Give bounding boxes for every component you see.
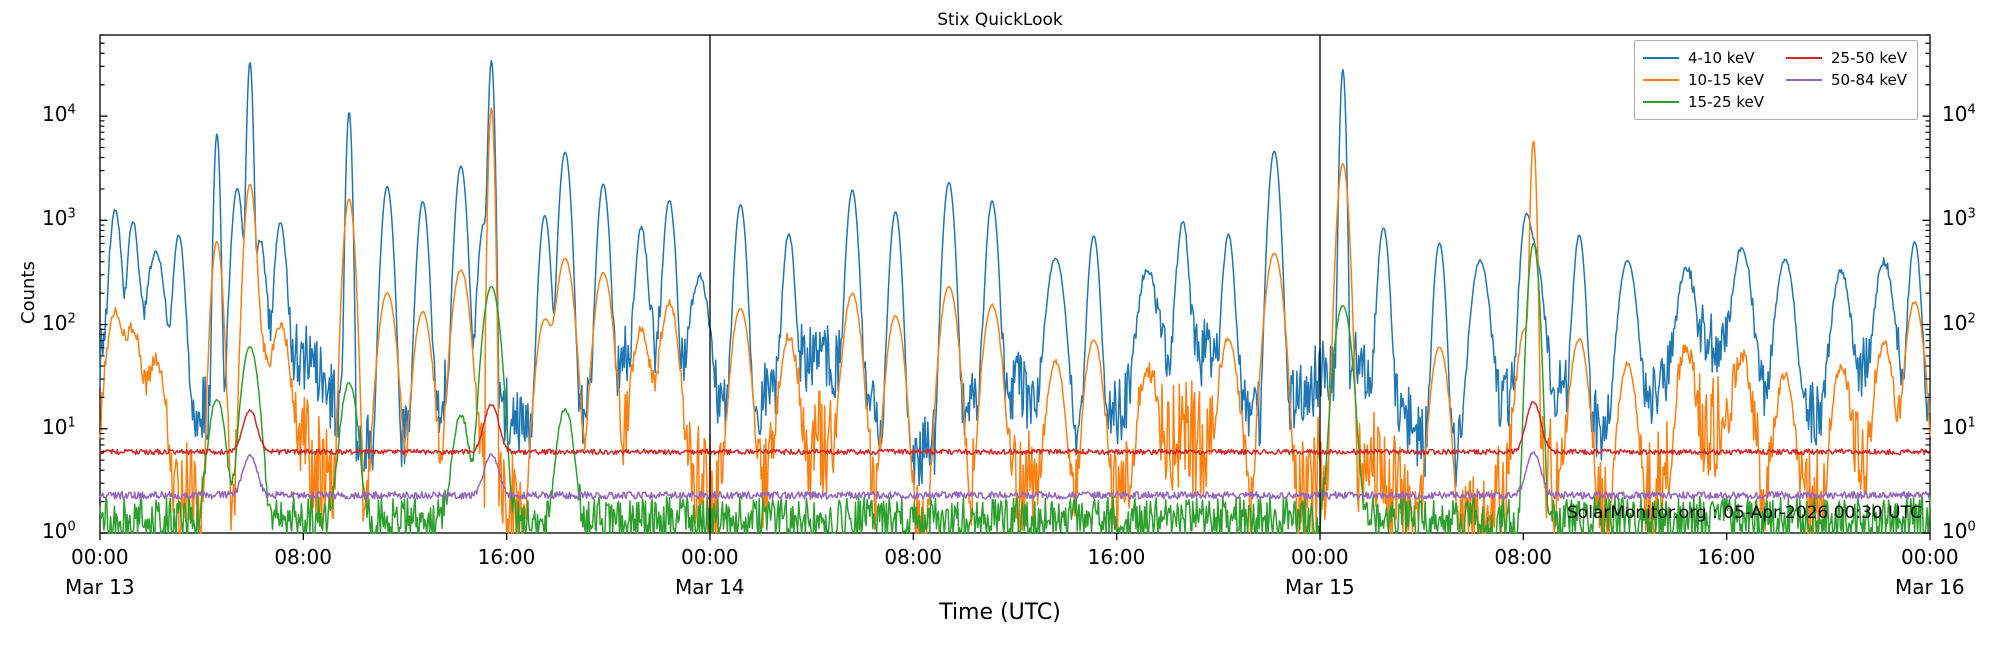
series-line-10-15kev <box>100 108 1930 533</box>
x-axis-day-label: Mar 15 <box>1285 575 1355 599</box>
x-axis-day-label: Mar 13 <box>65 575 135 599</box>
y-axis-tick-label-left: 103 <box>42 206 76 230</box>
y-axis-tick-label-left: 102 <box>42 311 76 335</box>
series-line-4-10kev <box>100 61 1930 487</box>
x-axis-tick-label: 00:00 <box>681 545 739 569</box>
legend-swatch-line <box>1643 57 1679 59</box>
chart-page: Stix QuickLook Counts Time (UTC) 4-10 ke… <box>0 0 2000 650</box>
legend-column-right: 25-50 keV50-84 keV <box>1786 47 1907 113</box>
x-axis-tick-label: 08:00 <box>274 545 332 569</box>
legend-item-label: 10-15 keV <box>1688 71 1764 89</box>
y-axis-tick-label-right: 104 <box>1942 102 1976 126</box>
y-axis-tick-label-right: 103 <box>1942 206 1976 230</box>
x-axis-tick-label: 16:00 <box>1088 545 1146 569</box>
legend-column-left: 4-10 keV10-15 keV15-25 keV <box>1643 47 1764 113</box>
legend-item-50-84kev[interactable]: 50-84 keV <box>1786 69 1907 91</box>
legend-item-15-25kev[interactable]: 15-25 keV <box>1643 91 1764 113</box>
legend-item-10-15kev[interactable]: 10-15 keV <box>1643 69 1764 91</box>
legend-swatch-line <box>1786 79 1822 81</box>
watermark-credit: SolarMonitor.org : 05-Apr-2026 00:30 UTC <box>1567 503 1922 523</box>
x-axis-tick-label: 00:00 <box>1291 545 1349 569</box>
x-axis-tick-label: 00:00 <box>1901 545 1959 569</box>
x-axis-tick-label: 16:00 <box>478 545 536 569</box>
y-axis-tick-label-right: 102 <box>1942 311 1976 335</box>
x-axis-day-label: Mar 16 <box>1895 575 1965 599</box>
legend-swatch-line <box>1643 101 1679 103</box>
y-axis-tick-label-left: 101 <box>42 415 76 439</box>
legend-swatch-line <box>1643 79 1679 81</box>
y-axis-tick-label-right: 101 <box>1942 415 1976 439</box>
x-axis-tick-label: 16:00 <box>1698 545 1756 569</box>
legend-item-label: 25-50 keV <box>1831 49 1907 67</box>
x-axis-tick-label: 08:00 <box>884 545 942 569</box>
legend-swatch-line <box>1786 57 1822 59</box>
legend-item-4-10kev[interactable]: 4-10 keV <box>1643 47 1764 69</box>
y-axis-tick-label-left: 100 <box>42 519 76 543</box>
x-axis-tick-label: 08:00 <box>1494 545 1552 569</box>
chart-legend: 4-10 keV10-15 keV15-25 keV 25-50 keV50-8… <box>1634 40 1918 120</box>
legend-item-label: 15-25 keV <box>1688 93 1764 111</box>
legend-item-label: 50-84 keV <box>1831 71 1907 89</box>
x-axis-tick-label: 00:00 <box>71 545 129 569</box>
x-axis-label: Time (UTC) <box>0 600 2000 625</box>
y-axis-tick-label-left: 104 <box>42 102 76 126</box>
legend-item-25-50kev[interactable]: 25-50 keV <box>1786 47 1907 69</box>
y-axis-tick-label-right: 100 <box>1942 519 1976 543</box>
legend-item-label: 4-10 keV <box>1688 49 1754 67</box>
x-axis-day-label: Mar 14 <box>675 575 745 599</box>
